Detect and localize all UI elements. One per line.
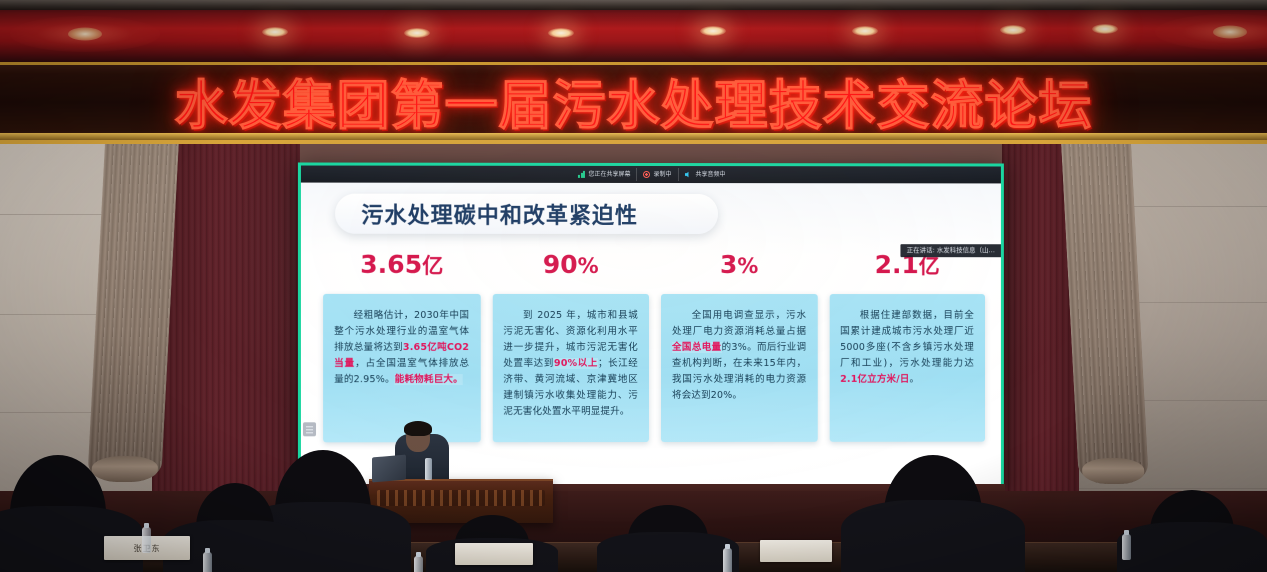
status-sharing-audio: 共享音频中 (678, 168, 731, 181)
slide-stat-columns: 3.65亿 经粗略估计，2030年中国整个污水处理行业的温室气体排放总量将达到3… (323, 252, 985, 443)
water-bottle (203, 552, 212, 572)
stat-number: 3.65亿 (360, 252, 443, 277)
status-sharing-screen: 您正在共享屏幕 (572, 168, 637, 181)
ceiling-downlight (700, 26, 726, 36)
audience-person (628, 505, 708, 572)
ceiling (0, 0, 1267, 62)
stat-card: 经粗略估计，2030年中国整个污水处理行业的温室气体排放总量将达到3.65亿吨C… (323, 294, 480, 442)
led-banner: 水发集团第一届污水处理技术交流论坛 (0, 62, 1267, 144)
desk-nameplate (455, 543, 533, 565)
signal-icon (578, 171, 585, 178)
ceiling-downlight (1092, 24, 1118, 34)
ceiling-downlight (852, 26, 878, 36)
stat-card: 全国用电调查显示，污水处理厂电力资源消耗总量占据全国总电量的3%。而后行业调查机… (661, 294, 817, 442)
audio-icon (684, 171, 692, 178)
podium-laptop (372, 455, 406, 483)
ceiling-spotlight (10, 16, 160, 52)
stat-number: 90% (543, 252, 599, 277)
water-bottle (723, 548, 732, 572)
ceiling-downlight (1000, 25, 1026, 35)
podium-water-bottle (425, 458, 432, 480)
audience-person (884, 455, 982, 572)
desk-nameplate (760, 540, 832, 562)
record-icon (643, 171, 650, 178)
stat-number: 3% (720, 252, 758, 277)
stat-column: 3.65亿 经粗略估计，2030年中国整个污水处理行业的温室气体排放总量将达到3… (323, 252, 480, 443)
slide-title: 污水处理碳中和改革紧迫性 (361, 198, 638, 230)
ceiling-downlight (548, 28, 574, 38)
conference-hall-photo: 水发集团第一届污水处理技术交流论坛 您正在共享屏幕 (0, 0, 1267, 572)
stat-column: 3% 全国用电调查显示，污水处理厂电力资源消耗总量占据全国总电量的3%。而后行业… (661, 252, 817, 442)
active-speaker-badge: 正在讲话: 水发科技信息（山… (901, 244, 1001, 257)
ceiling-spotlight (1155, 14, 1267, 50)
water-bottle (142, 527, 151, 553)
status-recording: 录制中 (637, 168, 678, 181)
stat-card: 到 2025 年，城市和县城污泥无害化、资源化利用水平进一步提升，城市污泥无害化… (492, 294, 649, 442)
audience-person (10, 455, 106, 572)
stat-column: 90% 到 2025 年，城市和县城污泥无害化、资源化利用水平进一步提升，城市污… (492, 252, 649, 442)
presenter-hair (404, 421, 432, 436)
ceiling-downlight (262, 27, 288, 37)
stat-card: 根据住建部数据，目前全国累计建成城市污水处理厂近5000多座(不含乡镇污水处理厂… (829, 294, 985, 442)
meeting-status-bar: 您正在共享屏幕 录制中 共享音频中 (301, 166, 1001, 184)
slide-title-pill: 污水处理碳中和改革紧迫性 (335, 194, 718, 234)
water-bottle (1122, 534, 1131, 560)
audience-person (1150, 490, 1234, 572)
water-bottle (414, 556, 423, 572)
led-banner-text: 水发集团第一届污水处理技术交流论坛 (0, 63, 1267, 139)
ceiling-downlight (404, 28, 430, 38)
stat-column: 2.1亿 根据住建部数据，目前全国累计建成城市污水处理厂近5000多座(不含乡镇… (829, 252, 985, 442)
slide-menu-icon[interactable] (303, 422, 316, 436)
